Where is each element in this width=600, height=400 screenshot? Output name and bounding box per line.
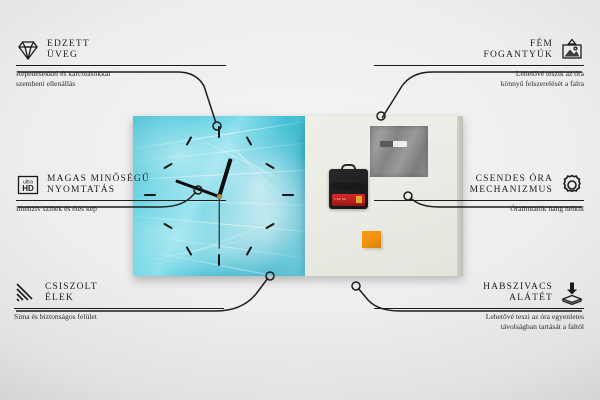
foam-spacer-pad	[362, 231, 381, 248]
mechanism-band	[331, 183, 366, 190]
callout-desc: Repedésekkel és karcolásokkal szembeni e…	[16, 69, 226, 88]
svg-text:HD: HD	[22, 184, 34, 193]
callout-tempered-glass: EDZETT ÜVEG Repedésekkel és karcolásokka…	[16, 38, 226, 88]
callout-rule	[374, 308, 584, 309]
callout-rule	[16, 65, 226, 66]
callout-desc: Intenzív színek és éles kép	[16, 204, 226, 214]
callout-title: FÉM FOGANTYÚK	[484, 39, 553, 62]
callout-header: HABSZIVACS ALÁTÉT	[374, 281, 584, 305]
callout-desc: Lehetővé teszi az óra egyenletes távolsá…	[374, 312, 584, 331]
callout-foam-backing: HABSZIVACS ALÁTÉT Lehetővé teszi az óra …	[374, 281, 584, 331]
ultra-hd-icon: ultra HD	[16, 173, 40, 197]
hanger-slot	[380, 141, 407, 147]
callout-rule	[14, 308, 224, 309]
picture-frame-hanger-icon	[560, 38, 584, 62]
mechanism-hanging-loop	[341, 164, 356, 172]
callout-silent-mechanism: CSENDES ÓRA MECHANIZMUS Óramutatók hang …	[374, 173, 584, 214]
callout-rule	[374, 65, 584, 66]
callout-title: MAGAS MINŐSÉGŰ NYOMTATÁS	[47, 174, 150, 197]
callout-desc: Lehetővé teszik az óra könnyű felszerelé…	[374, 69, 584, 88]
gear-icon	[560, 173, 584, 197]
battery-label: 1.5V AA	[334, 197, 346, 201]
metal-hanger-plate	[370, 126, 428, 177]
callout-rule	[16, 200, 226, 201]
diamond-icon	[16, 38, 40, 62]
callout-high-quality-print: ultra HD MAGAS MINŐSÉGŰ NYOMTATÁS Intenz…	[16, 173, 226, 214]
callout-header: CSISZOLT ÉLEK	[14, 281, 224, 305]
callout-title: CSENDES ÓRA MECHANIZMUS	[470, 174, 553, 197]
callout-polished-edges: CSISZOLT ÉLEK Sima és biztonságos felüle…	[14, 281, 224, 322]
callout-desc: Sima és biztonságos felület	[14, 312, 224, 322]
callout-header: FÉM FOGANTYÚK	[374, 38, 584, 62]
callout-header: CSENDES ÓRA MECHANIZMUS	[374, 173, 584, 197]
battery-terminal	[356, 196, 362, 203]
callout-title: HABSZIVACS ALÁTÉT	[483, 282, 553, 305]
callout-desc: Óramutatók hang nélkül	[374, 204, 584, 214]
polished-edges-icon	[14, 281, 38, 305]
callout-header: EDZETT ÜVEG	[16, 38, 226, 62]
foam-pad-arrow-icon	[560, 281, 584, 305]
callout-title: EDZETT ÜVEG	[47, 39, 90, 62]
clock-mechanism-box: 1.5V AA	[329, 169, 368, 209]
infographic-canvas: 1.5V AA	[0, 0, 600, 400]
callout-title: CSISZOLT ÉLEK	[45, 282, 98, 305]
callout-metal-handles: FÉM FOGANTYÚK Lehetővé teszik az óra kön…	[374, 38, 584, 88]
battery: 1.5V AA	[332, 194, 365, 206]
callout-header: ultra HD MAGAS MINŐSÉGŰ NYOMTATÁS	[16, 173, 226, 197]
callout-rule	[374, 200, 584, 201]
